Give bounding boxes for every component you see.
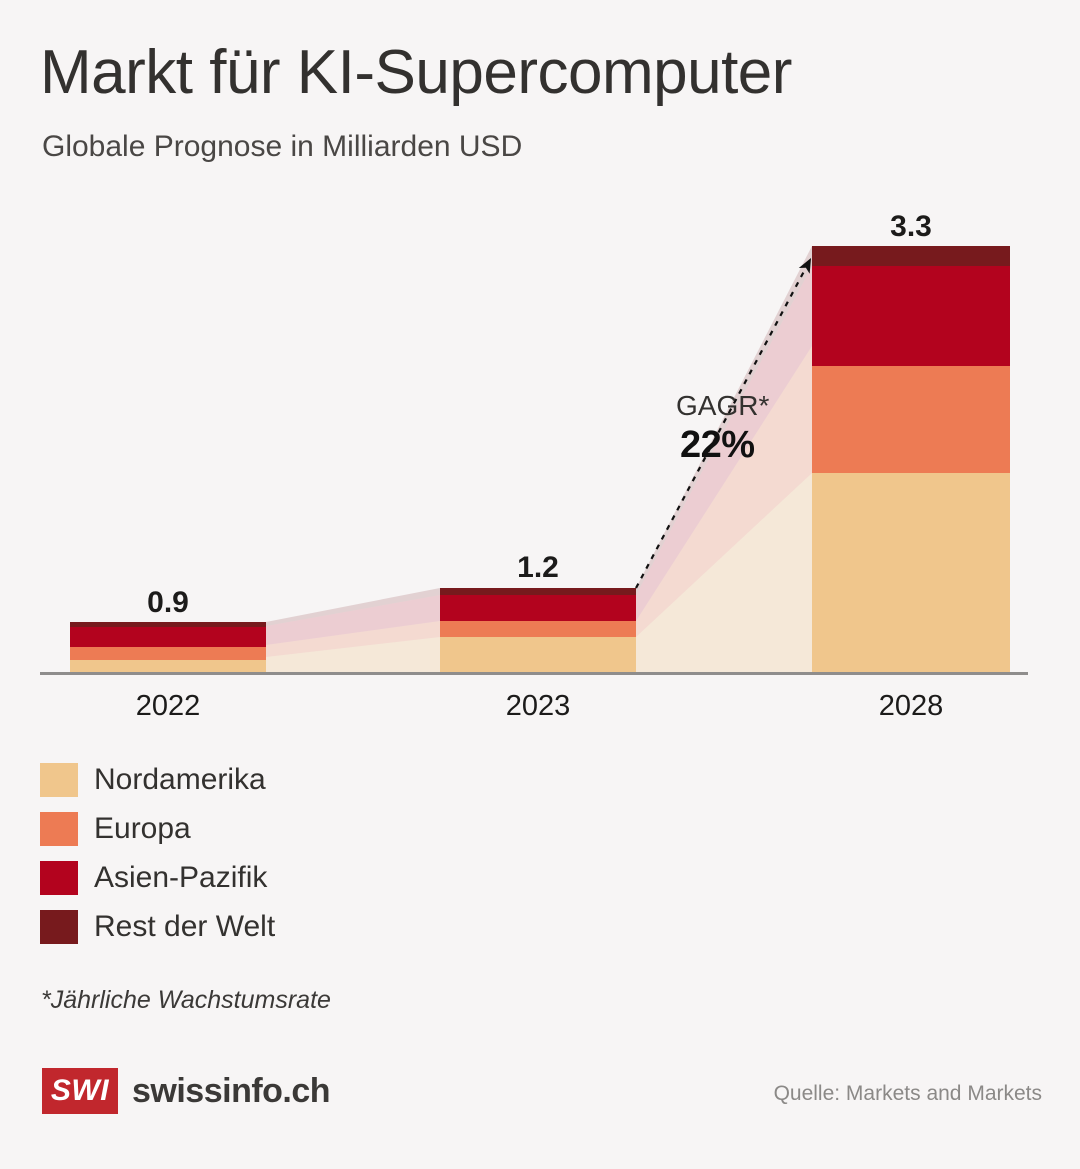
x-axis-label-2023: 2023 (440, 690, 636, 723)
legend-swatch-icon (40, 763, 78, 797)
stacked-bar-chart: 0.9 2022 1.2 2023 3.3 2028 (0, 0, 1080, 700)
chart-footnote: *Jährliche Wachstumsrate (41, 986, 331, 1015)
bar-segment-europa (812, 366, 1010, 473)
bar-2022[interactable] (70, 622, 266, 672)
growth-annotation-value: 22% (680, 424, 755, 467)
bar-2028[interactable] (812, 246, 1010, 672)
legend-swatch-icon (40, 861, 78, 895)
bar-segment-europa (70, 647, 266, 660)
footer: SWI swissinfo.ch Quelle: Markets and Mar… (0, 1062, 1080, 1132)
bar-total-label-2022: 0.9 (70, 586, 266, 620)
legend-item-label: Asien-Pazifik (94, 863, 267, 893)
legend-swatch-icon (40, 910, 78, 944)
x-axis-label-2028: 2028 (812, 690, 1010, 723)
bar-segment-asien-pazifik (812, 266, 1010, 366)
bar-segment-asien-pazifik (440, 595, 636, 621)
bar-2023[interactable] (440, 588, 636, 672)
bar-segment-rest-der-welt (812, 246, 1010, 266)
swi-logo-wordmark: swissinfo.ch (132, 1072, 330, 1111)
source-credit: Quelle: Markets and Markets (774, 1082, 1042, 1106)
legend-item-europa[interactable]: Europa (40, 804, 275, 853)
legend-item-label: Rest der Welt (94, 912, 275, 942)
legend-item-nordamerika[interactable]: Nordamerika (40, 755, 275, 804)
chart-legend: Nordamerika Europa Asien-Pazifik Rest de… (40, 755, 275, 951)
legend-item-label: Europa (94, 814, 191, 844)
legend-item-asien-pazifik[interactable]: Asien-Pazifik (40, 853, 275, 902)
bar-total-label-2028: 3.3 (812, 210, 1010, 244)
bar-segment-nordamerika (440, 637, 636, 672)
bar-segment-nordamerika (70, 660, 266, 672)
legend-swatch-icon (40, 812, 78, 846)
legend-item-rest-der-welt[interactable]: Rest der Welt (40, 902, 275, 951)
legend-item-label: Nordamerika (94, 765, 266, 795)
bar-segment-europa (440, 621, 636, 637)
bar-segment-rest-der-welt (440, 588, 636, 595)
infographic-root: Markt für KI-Supercomputer Globale Progn… (0, 0, 1080, 1169)
bar-segment-asien-pazifik (70, 627, 266, 647)
x-axis-label-2022: 2022 (70, 690, 266, 723)
bar-segment-nordamerika (812, 473, 1010, 672)
swi-logo[interactable]: SWI swissinfo.ch (42, 1068, 330, 1114)
swi-logo-mark: SWI (42, 1068, 118, 1114)
bar-total-label-2023: 1.2 (440, 551, 636, 585)
growth-annotation-label: GAGR* (676, 390, 769, 422)
x-axis-line (40, 672, 1028, 675)
